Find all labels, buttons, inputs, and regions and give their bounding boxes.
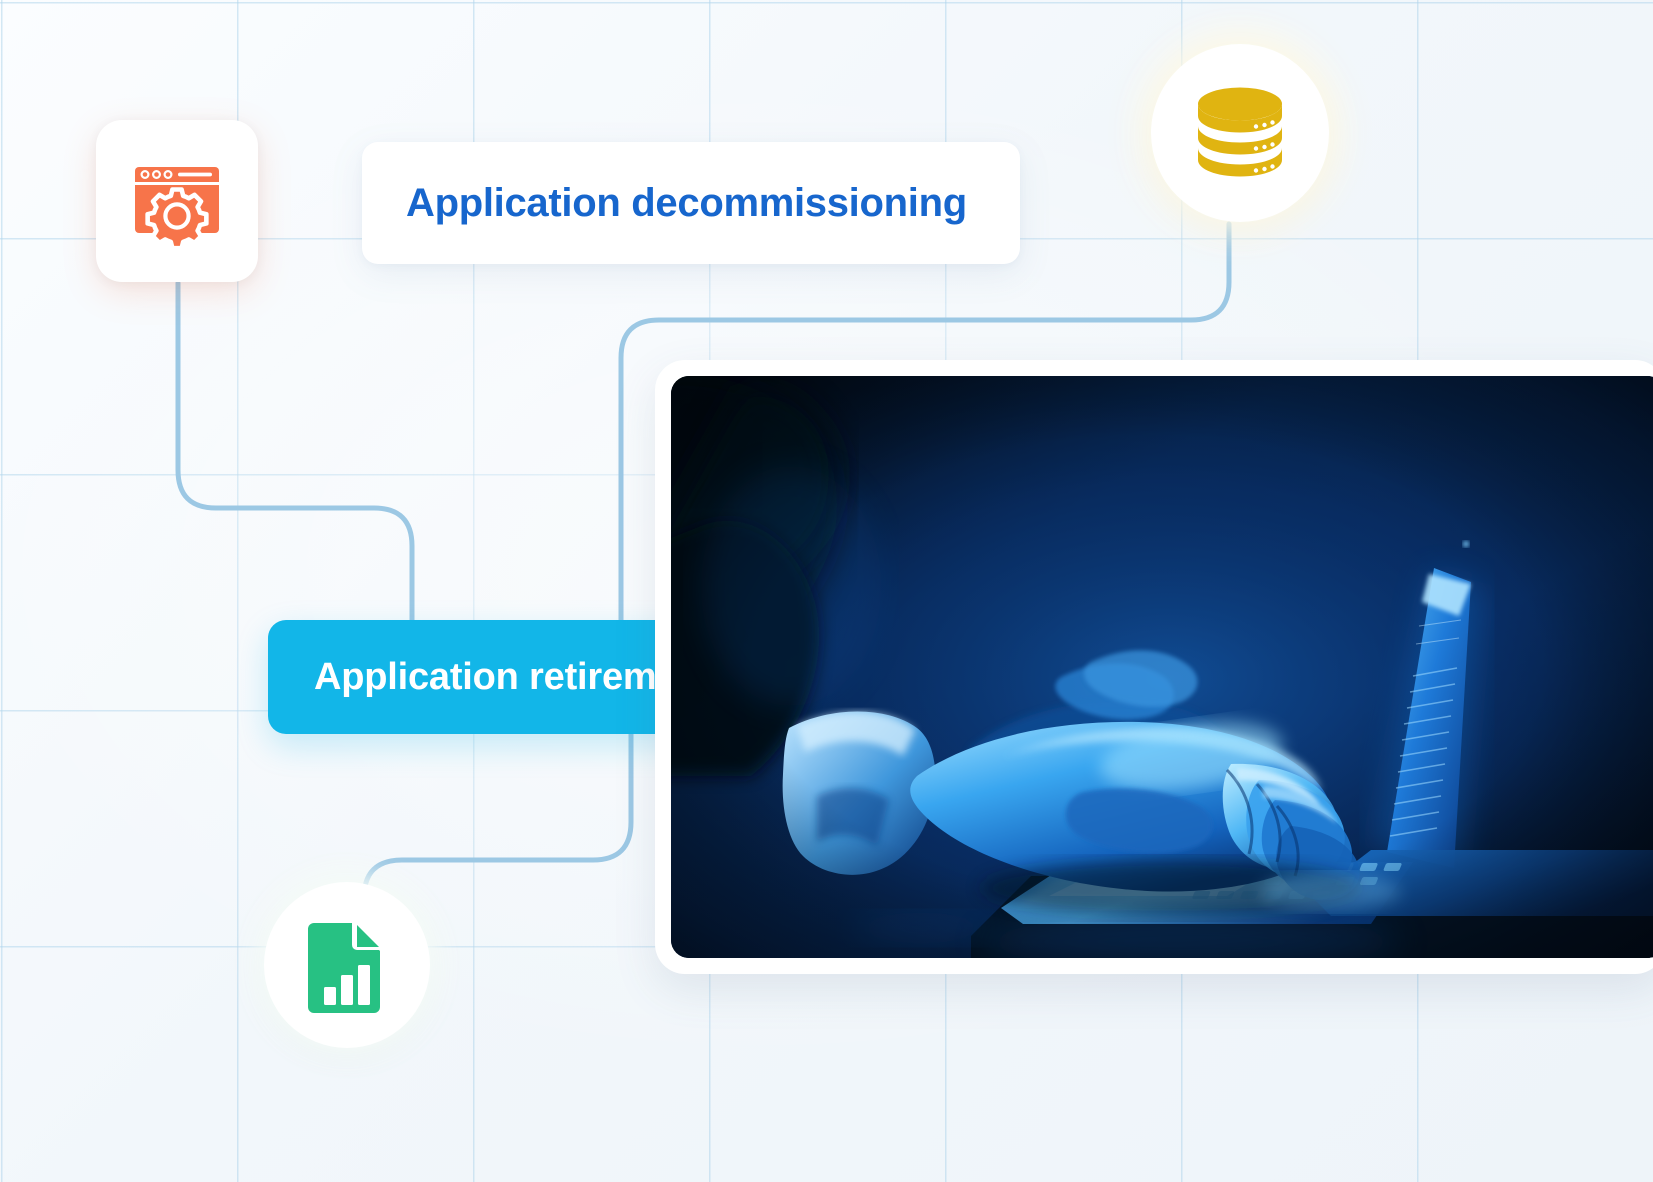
report-icon-badge[interactable] — [264, 882, 430, 1048]
app-configuration-icon-card[interactable] — [96, 120, 258, 282]
illustration-canvas: Application decommissioning Application … — [0, 0, 1653, 1182]
application-decommissioning-label: Application decommissioning — [362, 181, 967, 226]
connector-retirement-to-report — [364, 734, 631, 930]
connector-app-config-to-retirement — [178, 283, 412, 624]
application-decommissioning-card[interactable]: Application decommissioning — [362, 142, 1020, 264]
database-stack-icon — [1194, 84, 1286, 182]
laptop-photo-card — [655, 360, 1653, 974]
document-bar-chart-icon — [306, 917, 388, 1013]
hands-typing-on-laptop-photo-art — [671, 376, 1653, 958]
browser-window-gear-icon — [129, 153, 225, 249]
laptop-photo — [671, 376, 1653, 958]
database-icon-badge[interactable] — [1151, 44, 1329, 222]
application-retirement-label: Application retirement — [268, 656, 713, 699]
